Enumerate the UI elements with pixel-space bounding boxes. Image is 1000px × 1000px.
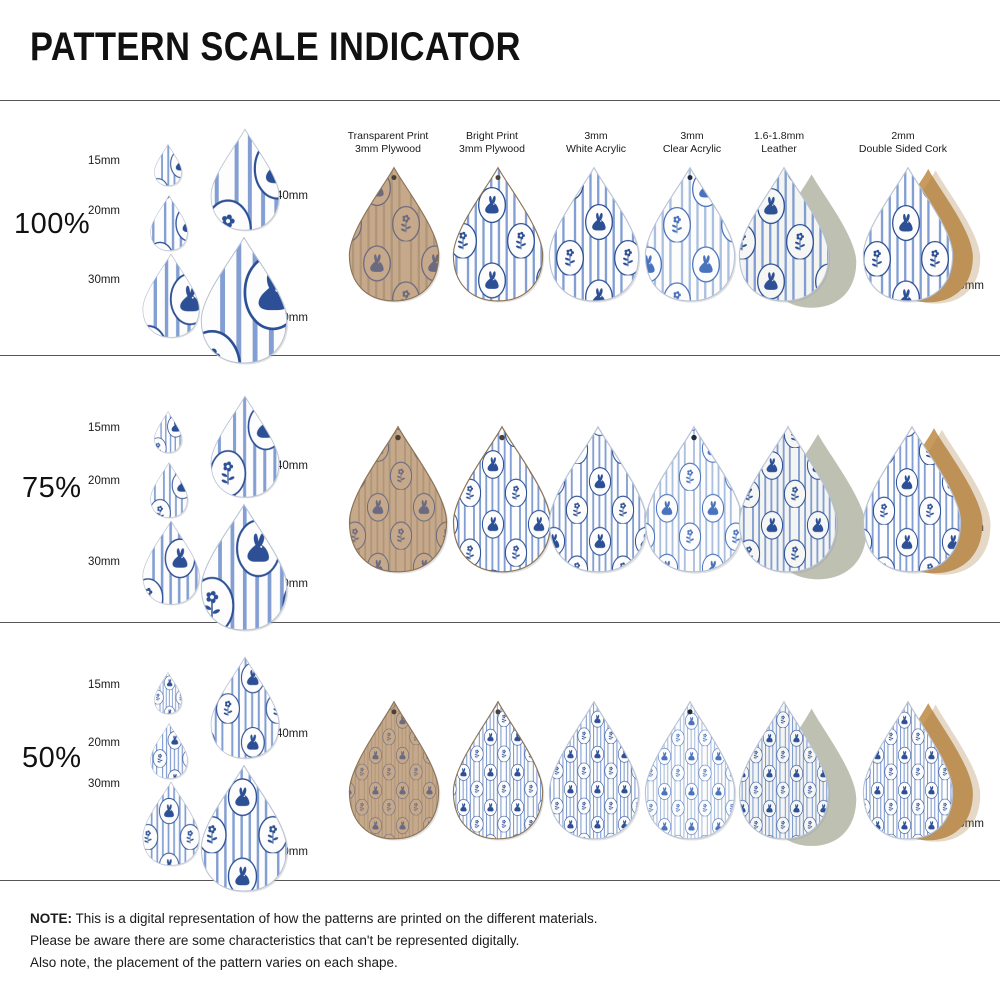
size-reference-teardrop (200, 236, 288, 364)
size-label-30mm: 30mm (60, 274, 120, 286)
size-reference-teardrop (154, 144, 182, 186)
material-sample-teardrop (348, 166, 440, 302)
size-reference-teardrop (210, 395, 280, 498)
material-sample-teardrop (452, 166, 544, 302)
material-sample-teardrop (738, 166, 830, 302)
column-header-line2: 3mm Plywood (355, 143, 421, 155)
column-header-line2: White Acrylic (566, 143, 626, 155)
note-line-1: NOTE: This is a digital representation o… (30, 908, 598, 930)
material-sample-teardrop (644, 425, 744, 573)
size-label-20mm: 20mm (60, 475, 120, 487)
material-sample-teardrop (348, 425, 448, 573)
size-label-30mm: 30mm (60, 778, 120, 790)
size-label-15mm: 15mm (60, 155, 120, 167)
note-block: NOTE: This is a digital representation o… (30, 908, 598, 974)
material-sample-teardrop (548, 166, 640, 302)
size-reference-teardrop (142, 520, 200, 605)
material-sample-teardrop (548, 425, 648, 573)
column-header-line2: Double Sided Cork (859, 143, 947, 155)
size-reference-teardrop (142, 253, 200, 338)
column-header-line2: Leather (761, 143, 797, 155)
column-header-line1: 3mm (584, 130, 607, 142)
note-text-2: Please be aware there are some character… (30, 933, 519, 948)
size-label-40mm: 40mm (276, 190, 308, 202)
size-label-20mm: 20mm (60, 737, 120, 749)
note-label: NOTE: (30, 911, 72, 926)
material-sample-teardrop (862, 425, 962, 573)
column-header-line1: Bright Print (466, 130, 518, 142)
material-sample-teardrop (738, 700, 830, 840)
material-sample-teardrop (644, 700, 736, 840)
column-header-cork: 2mmDouble Sided Cork (838, 130, 968, 156)
page-title: PATTERN SCALE INDICATOR (30, 25, 521, 70)
divider-row-2 (0, 622, 1000, 623)
note-line-2: Please be aware there are some character… (30, 930, 598, 952)
note-text-3: Also note, the placement of the pattern … (30, 955, 398, 970)
size-label-20mm: 20mm (60, 205, 120, 217)
size-label-30mm: 30mm (60, 556, 120, 568)
note-line-3: Also note, the placement of the pattern … (30, 952, 598, 974)
size-reference-teardrop (150, 723, 188, 779)
material-sample-teardrop (548, 700, 640, 840)
size-reference-teardrop (200, 503, 288, 631)
size-reference-teardrop (210, 656, 280, 759)
size-reference-teardrop (142, 781, 200, 866)
divider-row-1 (0, 355, 1000, 356)
divider-row-3 (0, 880, 1000, 881)
material-sample-teardrop (644, 166, 736, 302)
pattern-scale-indicator-page: PATTERN SCALE INDICATOR Transparent Prin… (0, 0, 1000, 1000)
size-reference-teardrop (210, 128, 280, 231)
size-label-40mm: 40mm (276, 460, 308, 472)
column-header-line1: 1.6-1.8mm (754, 130, 804, 142)
column-header-line1: Transparent Print (348, 130, 429, 142)
material-sample-teardrop (862, 166, 954, 302)
material-sample-teardrop (738, 425, 838, 573)
column-header-line2: Clear Acrylic (663, 143, 721, 155)
size-label-15mm: 15mm (60, 679, 120, 691)
size-label-40mm: 40mm (276, 728, 308, 740)
size-reference-teardrop (150, 195, 188, 251)
size-label-15mm: 15mm (60, 422, 120, 434)
column-header-line2: 3mm Plywood (459, 143, 525, 155)
divider-top (0, 100, 1000, 101)
size-reference-teardrop (154, 411, 182, 453)
size-reference-teardrop (150, 462, 188, 518)
column-header-line1: 2mm (891, 130, 914, 142)
material-sample-teardrop (452, 700, 544, 840)
size-reference-teardrop (154, 672, 182, 714)
material-sample-teardrop (452, 425, 552, 573)
column-header-leather: 1.6-1.8mmLeather (714, 130, 844, 156)
column-header-line1: 3mm (680, 130, 703, 142)
material-sample-teardrop (348, 700, 440, 840)
size-reference-teardrop (200, 764, 288, 892)
note-text-1: This is a digital representation of how … (76, 911, 598, 926)
material-sample-teardrop (862, 700, 954, 840)
